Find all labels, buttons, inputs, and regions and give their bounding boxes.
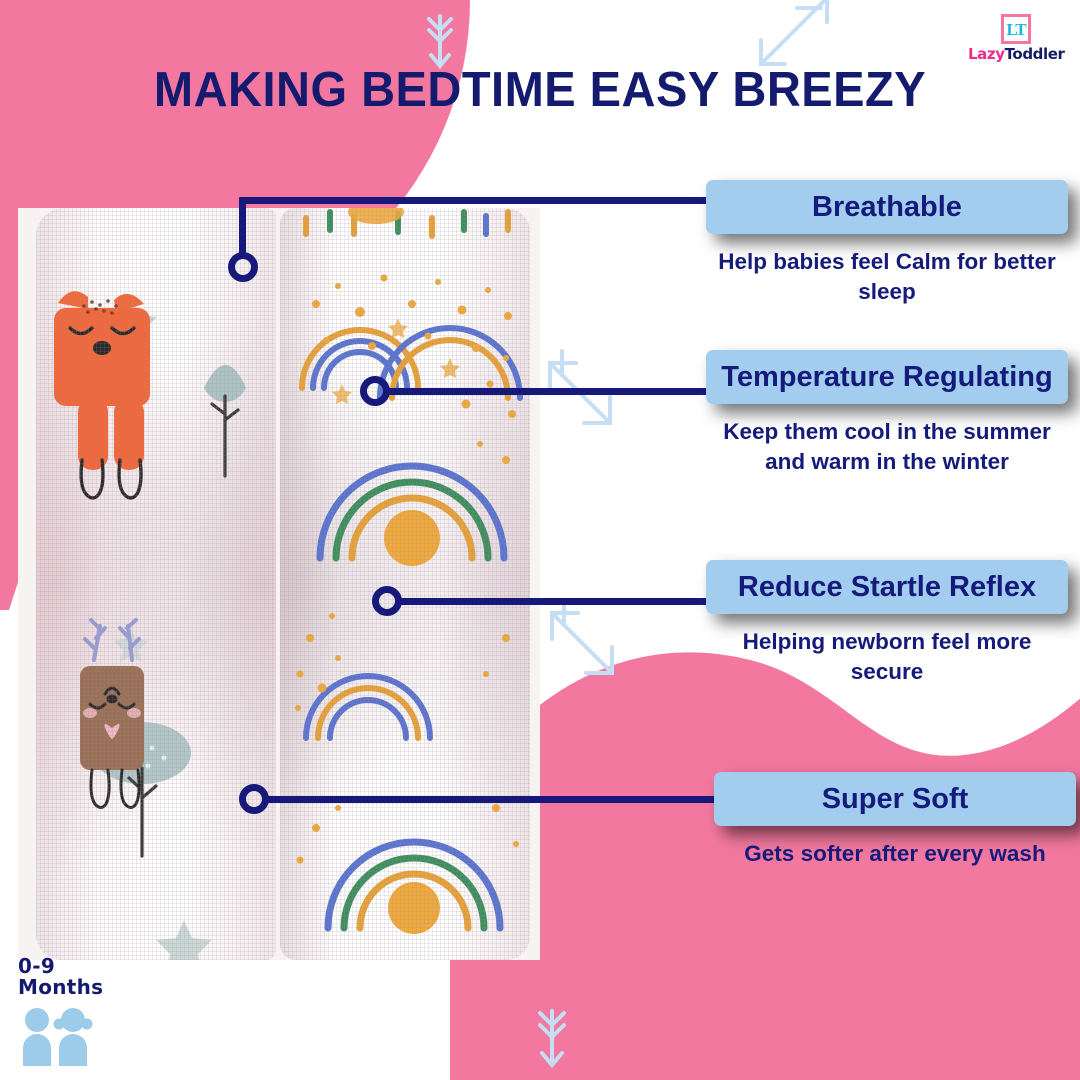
feature-description-breathable: Help babies feel Calm for better sleep: [706, 247, 1068, 307]
connector-segment-horizontal: [396, 598, 718, 605]
pine-tree-motif: [204, 365, 246, 476]
connector-segment-vertical: [239, 200, 246, 258]
fox-motif: [54, 291, 150, 498]
logo-wordmark: LazyToddler: [968, 47, 1064, 62]
age-badge: 0-9 Months: [18, 956, 103, 1066]
arrow-down-bottom-icon: [530, 1005, 574, 1073]
feature-title-supersoft: Super Soft: [714, 772, 1076, 826]
feature-title-temperature: Temperature Regulating: [706, 350, 1068, 404]
logo-mark-icon: LT: [1001, 14, 1031, 44]
feature-title-startle: Reduce Startle Reflex: [706, 560, 1068, 614]
swaddle-roll-left: [36, 208, 276, 960]
connector-segment-horizontal: [263, 796, 718, 803]
feature-description-supersoft: Gets softer after every wash: [714, 839, 1076, 869]
feature-card-breathable: Breathable Help babies feel Calm for bet…: [706, 180, 1068, 307]
age-badge-line2: Months: [18, 977, 103, 998]
swaddle-roll-right: [280, 208, 530, 960]
logo-word-lazy: Lazy: [968, 45, 1005, 63]
brand-logo[interactable]: LT LazyToddler: [968, 14, 1064, 62]
age-badge-line1: 0-9: [18, 956, 103, 977]
connector-segment-horizontal: [239, 197, 717, 204]
feature-card-startle: Reduce Startle Reflex Helping newborn fe…: [706, 560, 1068, 687]
feature-title-breathable: Breathable: [706, 180, 1068, 234]
logo-word-toddler: Toddler: [1005, 45, 1065, 63]
product-photo: [18, 208, 540, 960]
infographic-canvas: LT LazyToddler MAKING BEDTIME EASY BREEZ…: [0, 0, 1080, 1080]
page-title: MAKING BEDTIME EASY BREEZY: [22, 62, 1059, 118]
logo-mark-text: LT: [1006, 21, 1025, 38]
feature-description-startle: Helping newborn feel more secure: [706, 627, 1068, 687]
feature-card-temperature: Temperature Regulating Keep them cool in…: [706, 350, 1068, 477]
arrow-diagonal-lower-icon: [540, 595, 630, 690]
feature-description-temperature: Keep them cool in the summer and warm in…: [706, 417, 1068, 477]
connector-segment-horizontal: [384, 388, 718, 395]
two-children-icon: [18, 1006, 96, 1066]
feature-card-supersoft: Super Soft Gets softer after every wash: [714, 772, 1076, 869]
